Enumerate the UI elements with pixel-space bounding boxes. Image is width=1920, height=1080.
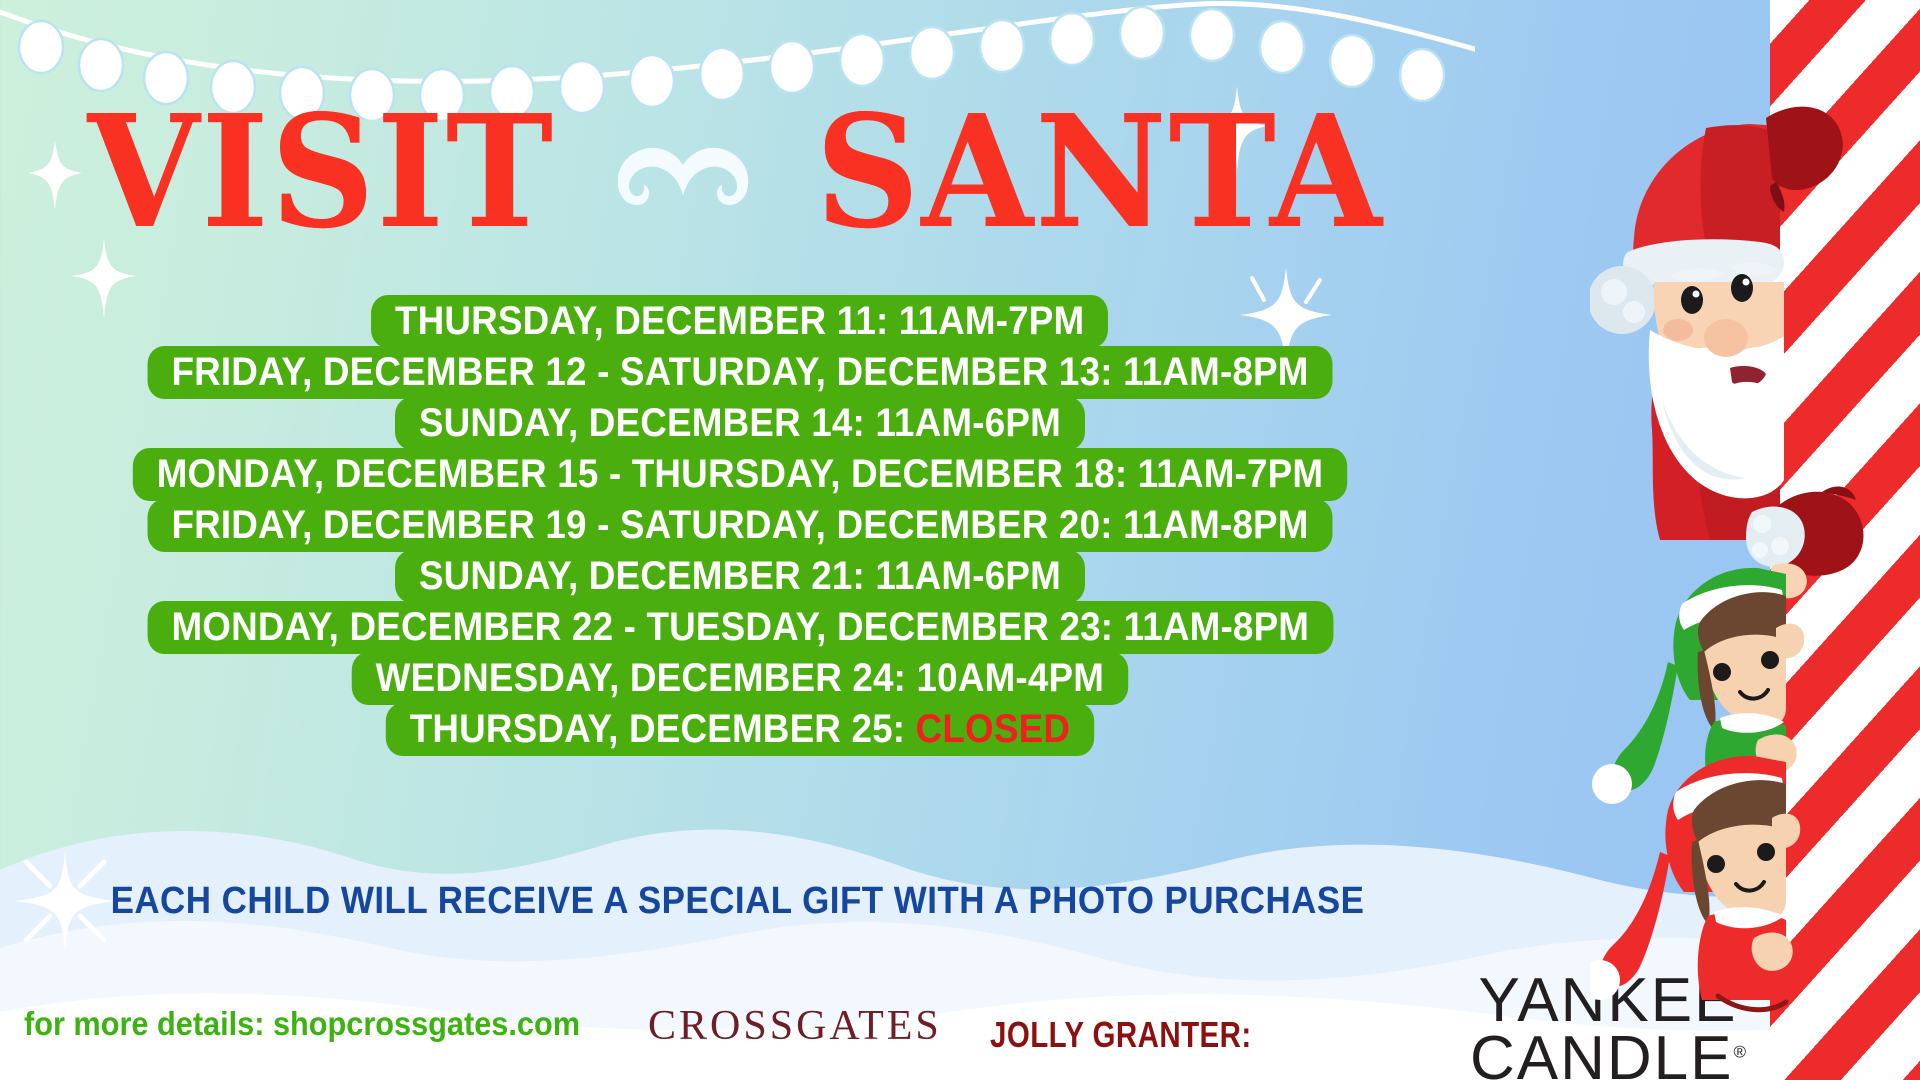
schedule-row: THURSDAY, DECEMBER 11: 11AM-7PM [371, 295, 1108, 348]
schedule-row: FRIDAY, DECEMBER 12 - SATURDAY, DECEMBER… [147, 346, 1332, 399]
schedule-row: MONDAY, DECEMBER 22 - TUESDAY, DECEMBER … [147, 601, 1333, 654]
gift-tagline: EACH CHILD WILL RECEIVE A SPECIAL GIFT W… [59, 880, 1416, 923]
yankee-logo-candle-text: CANDLE [1470, 1024, 1734, 1080]
candy-stripe-panel [1770, 0, 1920, 1080]
yankee-logo-line2: CANDLE® [1448, 1029, 1768, 1080]
page-title: VISIT SANTA [0, 98, 1475, 245]
schedule-row: SUNDAY, DECEMBER 14: 11AM-6PM [395, 397, 1085, 450]
title-word-santa: SANTA [816, 98, 1384, 245]
yankee-candle-logo: YANKEE CANDLE® [1448, 972, 1768, 1080]
jolly-granter-label: JOLLY GRANTER: [990, 1014, 1252, 1056]
schedule-row: MONDAY, DECEMBER 15 - THURSDAY, DECEMBER… [133, 448, 1347, 501]
title-word-visit: VISIT [87, 98, 554, 245]
mustache-icon [608, 143, 758, 221]
registered-mark: ® [1733, 1042, 1746, 1061]
status-badge-closed: CLOSED [916, 707, 1070, 751]
yankee-logo-line1: YANKEE [1448, 972, 1768, 1029]
schedule-row: THURSDAY, DECEMBER 25: CLOSED [386, 703, 1094, 756]
details-url[interactable]: for more details: shopcrossgates.com [24, 1005, 580, 1043]
crossgates-logo: CROSSGATES [648, 1002, 942, 1050]
schedule-list: THURSDAY, DECEMBER 11: 11AM-7PMFRIDAY, D… [0, 296, 1480, 755]
schedule-row: SUNDAY, DECEMBER 21: 11AM-6PM [395, 550, 1085, 603]
schedule-row-date: THURSDAY, DECEMBER 25: [410, 707, 916, 751]
candy-stripes [1770, 0, 1920, 1080]
schedule-row: WEDNESDAY, DECEMBER 24: 10AM-4PM [352, 652, 1128, 705]
schedule-row: FRIDAY, DECEMBER 19 - SATURDAY, DECEMBER… [147, 499, 1332, 552]
